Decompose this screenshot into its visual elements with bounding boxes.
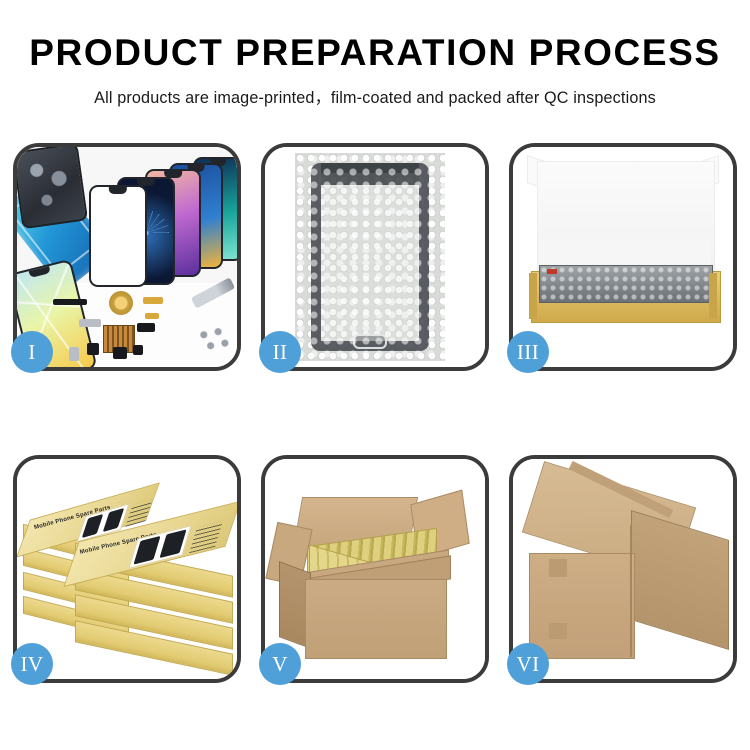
step-badge-5: V (259, 643, 301, 685)
stacked-retail-boxes-photo: Mobile Phone Spare Parts Mobile Phone Sp… (17, 459, 237, 679)
phone-logic-board-icon (17, 147, 88, 229)
phone-white-icon (89, 185, 147, 287)
carton-tab-lower-icon (549, 623, 567, 639)
phone-screens-and-spare-parts-photo (17, 147, 237, 367)
speaker-coil-icon (109, 291, 133, 315)
open-kraft-box-with-foam-photo (513, 147, 733, 367)
step-panel-6: VI (509, 455, 737, 683)
box-flap-right-icon (709, 273, 717, 319)
step-badge-2: II (259, 331, 301, 373)
carton-front-icon (305, 579, 447, 659)
step-panel-5: V (261, 455, 489, 683)
step-panel-4-frame: Mobile Phone Spare Parts Mobile Phone Sp… (17, 459, 237, 679)
page-header: PRODUCT PREPARATION PROCESS All products… (0, 0, 750, 108)
step-panel-2: II (261, 143, 489, 371)
wrapped-screen-in-box-icon (539, 265, 713, 303)
step-panel-6-frame (513, 459, 733, 679)
box-flap-left-icon (529, 273, 537, 319)
carton-tab-upper-icon (549, 559, 567, 577)
carton-front-face-icon (529, 553, 635, 659)
sealed-shipping-carton-photo (513, 459, 733, 679)
step-panel-3: III (509, 143, 737, 371)
bubble-wrapped-screen-photo (265, 147, 485, 367)
step-panel-5-frame (265, 459, 485, 679)
step-badge-1: I (11, 331, 53, 373)
step-badge-6: VI (507, 643, 549, 685)
step-panel-3-frame (513, 147, 733, 367)
step-badge-3: III (507, 331, 549, 373)
step-panel-4: Mobile Phone Spare Parts Mobile Phone Sp… (13, 455, 241, 683)
page-subtitle: All products are image-printed，film-coat… (0, 84, 750, 108)
red-marker-icon (547, 269, 557, 274)
retail-box-stack: Mobile Phone Spare Parts Mobile Phone Sp… (21, 473, 237, 669)
step-badge-4: IV (11, 643, 53, 685)
process-steps-grid: I II (13, 143, 737, 683)
step-panel-2-frame (265, 147, 485, 367)
phone-front-glass-icon (311, 163, 429, 351)
step-panel-1: I (13, 143, 241, 371)
open-carton-filled-with-boxes-photo (265, 459, 485, 679)
screws-icon (197, 327, 231, 353)
carton-corner-seam-icon (630, 525, 632, 657)
step-panel-1-frame (17, 147, 237, 367)
page-title: PRODUCT PREPARATION PROCESS (0, 34, 750, 73)
